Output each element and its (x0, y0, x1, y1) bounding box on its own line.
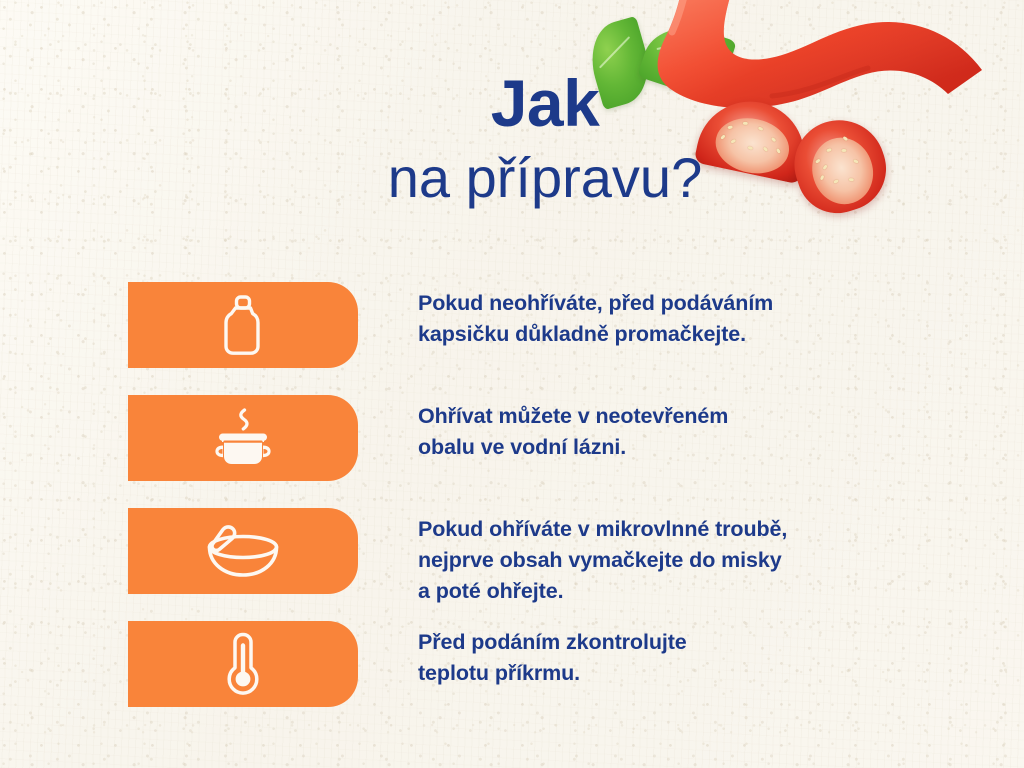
step-line: Ohřívat můžete v neotevřeném (418, 401, 858, 432)
cooking-pot-steam-icon (211, 407, 275, 469)
step-icon-chip (128, 395, 358, 481)
step-description: Ohřívat můžete v neotevřeném obalu ve vo… (418, 401, 858, 463)
preparation-steps-list: Pokud neohříváte, před podáváním kapsičk… (0, 282, 1024, 734)
step-line: Před podáním zkontrolujte (418, 627, 858, 658)
step-line: a poté ohřejte. (418, 576, 858, 607)
baby-food-pouch-icon (220, 294, 266, 356)
step-description: Pokud ohříváte v mikrovlnné troubě, nejp… (418, 514, 858, 608)
step-item: Pokud ohříváte v mikrovlnné troubě, nejp… (0, 508, 1024, 596)
infographic-poster: Jak na přípravu? Pokud neohříváte, před … (0, 0, 1024, 768)
step-item: Před podáním zkontrolujte teplotu příkrm… (0, 621, 1024, 709)
step-description: Pokud neohříváte, před podáváním kapsičk… (418, 288, 858, 350)
step-line: kapsičku důkladně promačkejte. (418, 319, 858, 350)
step-description: Před podáním zkontrolujte teplotu příkrm… (418, 627, 858, 689)
thermometer-icon (223, 631, 263, 697)
step-icon-chip (128, 282, 358, 368)
step-icon-chip (128, 621, 358, 707)
step-line: Pokud ohříváte v mikrovlnné troubě, (418, 514, 858, 545)
step-line: obalu ve vodní lázni. (418, 432, 858, 463)
step-line: teplotu příkrmu. (418, 658, 858, 689)
step-line: Pokud neohříváte, před podáváním (418, 288, 858, 319)
bowl-with-spoon-icon (205, 521, 281, 581)
step-line: nejprve obsah vymačkejte do misky (418, 545, 858, 576)
step-item: Pokud neohříváte, před podáváním kapsičk… (0, 282, 1024, 370)
step-item: Ohřívat můžete v neotevřeném obalu ve vo… (0, 395, 1024, 483)
step-icon-chip (128, 508, 358, 594)
